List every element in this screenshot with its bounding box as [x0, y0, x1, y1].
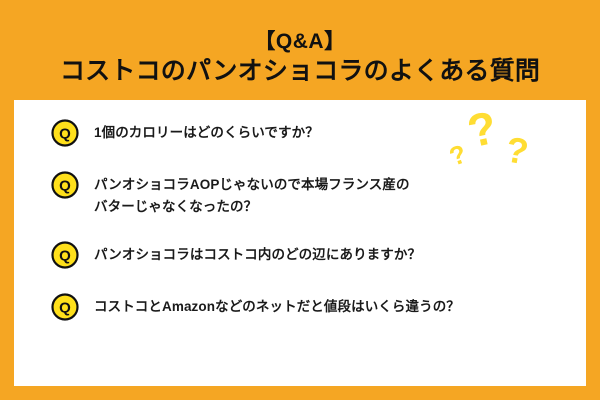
question-list: Q 1個のカロリーはどのくらいですか？ Q パンオショコラAOPじゃないので本場… [14, 100, 586, 344]
question-text: 1個のカロリーはどのくらいですか？ [94, 118, 319, 144]
q-badge-icon: Q [50, 170, 80, 200]
q-badge-icon: Q [50, 118, 80, 148]
list-item: Q パンオショコラAOPじゃないので本場フランス産の バターじゃなくなったの？ [14, 170, 586, 218]
svg-text:Q: Q [59, 178, 71, 195]
question-text: コストコとAmazonなどのネットだと値段はいくら違うの？ [94, 292, 460, 318]
poster-card: 【Q&A】 コストコのパンオショコラのよくある質問 ? ? ? Q 1個のカロ [14, 14, 586, 386]
header-title-line1: 【Q&A】 [254, 29, 345, 54]
list-item: Q コストコとAmazonなどのネットだと値段はいくら違うの？ [14, 292, 586, 322]
header-title-line2: コストコのパンオショコラのよくある質問 [60, 56, 540, 87]
q-badge-icon: Q [50, 292, 80, 322]
svg-text:Q: Q [59, 299, 71, 316]
question-text: パンオショコラAOPじゃないので本場フランス産の バターじゃなくなったの？ [94, 170, 410, 218]
svg-text:Q: Q [59, 247, 71, 264]
qa-body: ? ? ? Q 1個のカロリーはどのくらいですか？ [14, 100, 586, 386]
poster-page: 【Q&A】 コストコのパンオショコラのよくある質問 ? ? ? Q 1個のカロ [0, 0, 600, 400]
svg-text:Q: Q [59, 126, 71, 143]
list-item: Q パンオショコラはコストコ内のどの辺にありますか？ [14, 240, 586, 270]
header-banner: 【Q&A】 コストコのパンオショコラのよくある質問 [14, 14, 586, 100]
list-item: Q 1個のカロリーはどのくらいですか？ [14, 118, 586, 148]
q-badge-icon: Q [50, 240, 80, 270]
question-text: パンオショコラはコストコ内のどの辺にありますか？ [94, 240, 421, 266]
